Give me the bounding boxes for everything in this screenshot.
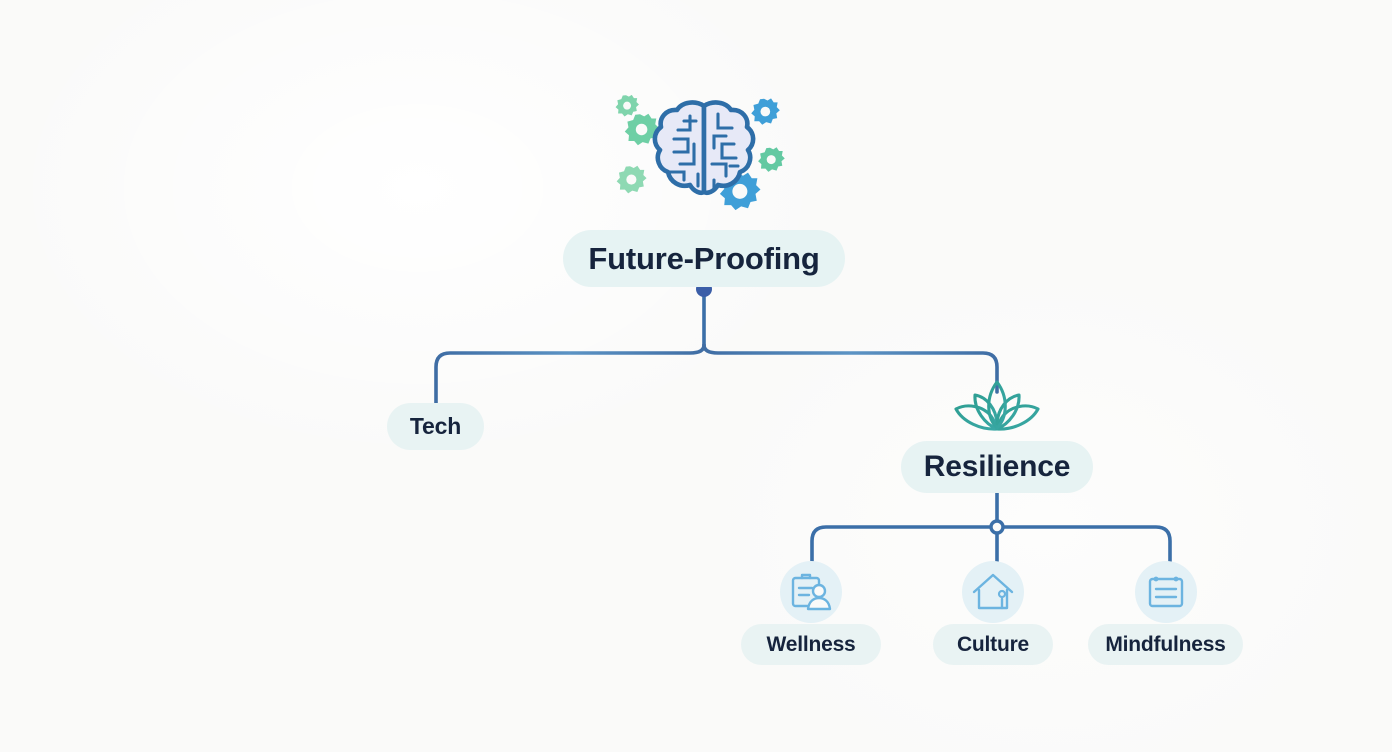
- node-future-proofing[interactable]: Future-Proofing: [563, 230, 845, 287]
- edge-resilience-to-wellness: [812, 527, 997, 561]
- house-icon: [962, 561, 1024, 623]
- node-tech[interactable]: Tech: [387, 403, 484, 450]
- clipboard-person-icon: [780, 561, 842, 623]
- node-mindfulness[interactable]: Mindfulness: [1088, 624, 1243, 665]
- brain-gears-icon: [612, 88, 796, 218]
- edge-root-to-tech: [436, 345, 704, 404]
- notepad-icon: [1135, 561, 1197, 623]
- mindmap-canvas: Future-Proofing Tech Resilience: [0, 0, 1392, 752]
- node-wellness[interactable]: Wellness: [741, 624, 881, 665]
- node-culture[interactable]: Culture: [933, 624, 1053, 665]
- resilience-junction-ring: [991, 521, 1003, 533]
- node-resilience[interactable]: Resilience: [901, 441, 1093, 493]
- lotus-icon: [953, 376, 1041, 436]
- edge-resilience-to-mindfulness: [997, 527, 1170, 561]
